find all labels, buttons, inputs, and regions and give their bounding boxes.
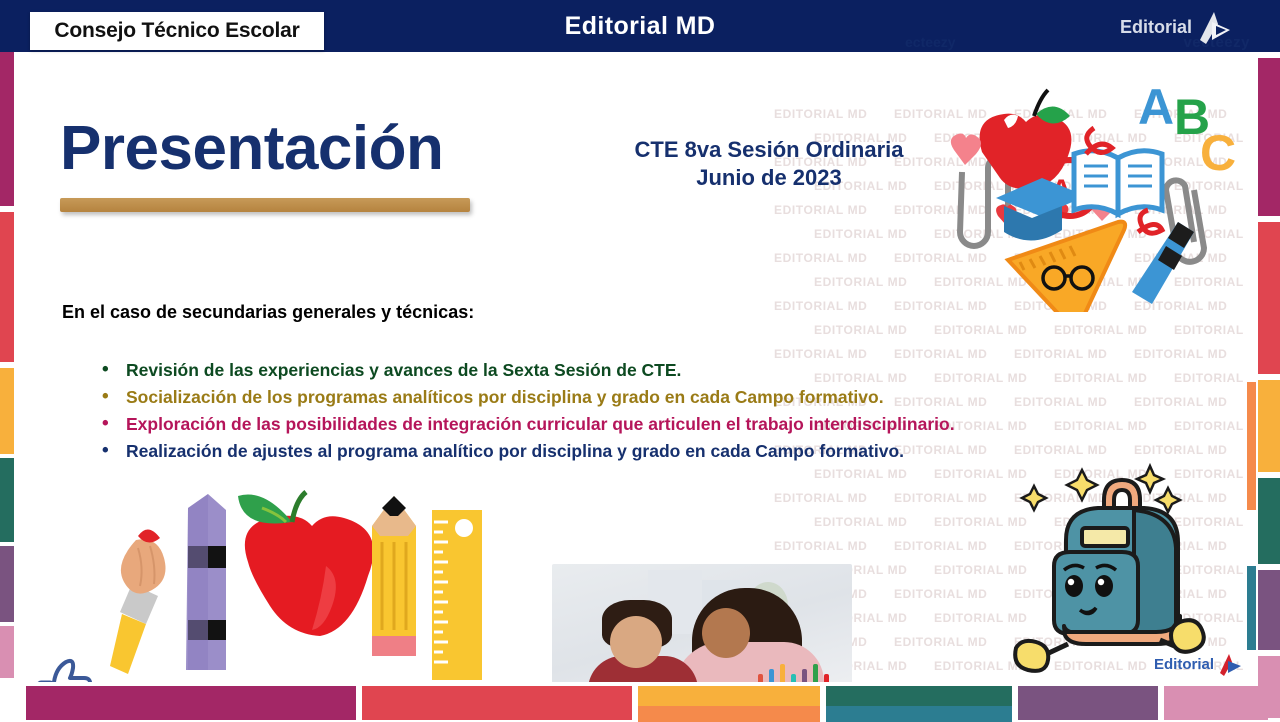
tab-label: Consejo Técnico Escolar [54, 19, 299, 43]
bullet-item-1: Revisión de las experiencias y avances d… [98, 358, 1228, 383]
watermark-text: EDITORIAL MD [894, 635, 987, 649]
md-play-icon [1196, 10, 1234, 44]
bottom-bar-pink [1164, 686, 1268, 720]
bullet-list: Revisión de las experiencias y avances d… [98, 358, 1228, 465]
editorial-md-logo: Editorial [1120, 8, 1234, 46]
bottom-decorative-bars [0, 682, 1280, 720]
watermark-text: EDITORIAL MD [934, 323, 1027, 337]
teacher-helping-student-photo [552, 564, 852, 682]
pen [824, 674, 829, 682]
session-line-2: Junio de 2023 [574, 164, 964, 192]
school-supplies-heart-illustration: A+ A B C [942, 62, 1242, 312]
content-card: EDITORIAL MDEDITORIAL MDEDITORIAL MDEDIT… [14, 52, 1246, 682]
watermark-text: EDITORIAL MD [774, 203, 867, 217]
pen [791, 674, 796, 682]
smiling-backpack-character-illustration [1010, 462, 1240, 682]
tab-consejo-tecnico-escolar[interactable]: Consejo Técnico Escolar [30, 12, 324, 50]
pen [769, 669, 774, 682]
watermark-text: EDITORIAL MD [894, 539, 987, 553]
svg-text:A: A [1138, 79, 1174, 135]
session-subtitle: CTE 8va Sesión Ordinaria Junio de 2023 [574, 136, 964, 192]
slide-root: Editorial MD ecteezy vecteezy Editorial … [0, 0, 1280, 720]
right-bar-teal [1258, 478, 1280, 564]
pen [802, 669, 807, 682]
footer-logo-text: Editorial [1154, 656, 1214, 673]
watermark-text: EDITORIAL MD [814, 515, 907, 529]
right-bar-red [1258, 222, 1280, 374]
watermark-text: EDITORIAL MD [814, 467, 907, 481]
right-bar-accent-1 [1247, 566, 1256, 650]
watermark-text: EDITORIAL MD [774, 491, 867, 505]
pen [813, 664, 818, 682]
intro-text: En el caso de secundarias generales y té… [62, 302, 474, 323]
bullet-item-4: Realización de ajustes al programa analí… [98, 439, 1228, 464]
watermark-vecteezy-mid: ecteezy [905, 34, 956, 50]
watermark-text: EDITORIAL MD [894, 491, 987, 505]
pen [758, 674, 763, 682]
headline-rule [60, 198, 470, 212]
footer-editorial-logo: Editorial [1154, 652, 1243, 676]
right-bar-accent-0 [1247, 382, 1256, 510]
svg-text:C: C [1200, 125, 1236, 181]
watermark-text: EDITORIAL MD [814, 227, 907, 241]
bottom-bar-red [362, 686, 632, 720]
paintbrush-crayon-apple-pencil-ruler-illustration [76, 470, 496, 682]
watermark-text: EDITORIAL MD [1174, 323, 1244, 337]
right-bar-amber [1258, 380, 1280, 472]
slide-headline-group: Presentación [60, 118, 470, 212]
watermark-text: EDITORIAL MD [1054, 323, 1147, 337]
md-play-icon [1217, 652, 1243, 676]
watermark-text: EDITORIAL MD [814, 323, 907, 337]
watermark-text: EDITORIAL MD [774, 251, 867, 265]
pen [780, 664, 785, 682]
watermark-text: EDITORIAL MD [894, 587, 987, 601]
page-title: Presentación [60, 118, 470, 180]
thumbs-up-icon [30, 656, 92, 682]
bottom-bar-magenta [26, 686, 356, 720]
right-bar-purple [1258, 570, 1280, 650]
bottom-bar-purple [1018, 686, 1158, 720]
watermark-text: EDITORIAL MD [774, 299, 867, 313]
bullet-item-3: Exploración de las posibilidades de inte… [98, 412, 1228, 437]
watermark-text: EDITORIAL MD [774, 539, 867, 553]
watermark-text: EDITORIAL MD [814, 275, 907, 289]
right-bar-magenta [1258, 58, 1280, 216]
bullet-item-2: Socialización de los programas analítico… [98, 385, 1228, 410]
logo-text: Editorial [1120, 17, 1192, 38]
watermark-text: EDITORIAL MD [774, 107, 867, 121]
session-line-1: CTE 8va Sesión Ordinaria [574, 136, 964, 164]
